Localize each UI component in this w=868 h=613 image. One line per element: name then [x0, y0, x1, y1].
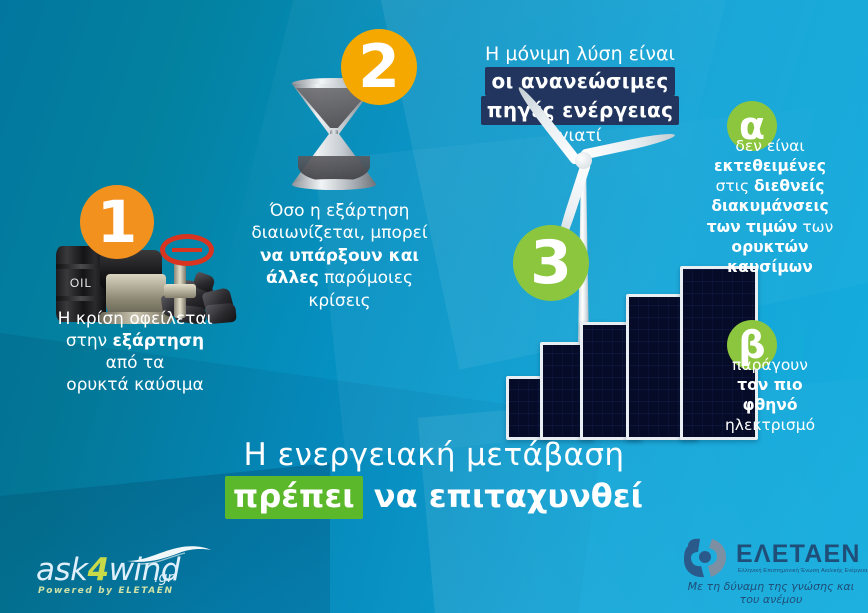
step-1-line-3: από τα — [10, 352, 260, 374]
hourglass-cap-bottom — [292, 179, 376, 190]
beta-line-3: φθηνό — [672, 395, 868, 415]
eletaen-mark-icon — [682, 536, 730, 580]
step-badge-1: 1 — [80, 185, 154, 259]
alpha-line-3: στις διεθνείς — [672, 176, 868, 196]
eletaen-name: ΕΛΕΤΑΕΝ — [736, 540, 861, 569]
step-1-line-4: ορυκτά καύσιμα — [10, 374, 260, 396]
oil-barrel-label: OIL — [56, 276, 106, 290]
step-2-line-2: διαιωνίζεται, μπορεί — [232, 222, 447, 244]
wind-turbine-hub-icon — [575, 152, 592, 169]
eletaen-subtitle: Ελληνική Επιστημονική Ένωση Αιολικής Ενέ… — [738, 568, 868, 574]
wind-turbine-blade-3 — [580, 130, 676, 160]
ask4wind-tld: .gr — [154, 570, 173, 586]
step-2-text: Όσο η εξάρτηση διαιωνίζεται, μπορεί να υ… — [232, 200, 447, 312]
eletaen-logo[interactable]: ΕΛΕΤΑΕΝ Ελληνική Επιστημονική Ένωση Αιολ… — [682, 534, 860, 600]
valve-wheel-icon — [160, 234, 214, 266]
step-1-text: Η κρίση οφείλεται στην εξάρτηση από τα ο… — [10, 308, 260, 396]
step-2-line-4: άλλες παρόμοιες — [232, 267, 447, 289]
bottom-headline-rest: να επιταχυνθεί — [363, 477, 643, 515]
bottom-headline: Η ενεργειακή μετάβαση πρέπει να επιταχυν… — [0, 437, 868, 519]
step-badge-3: 3 — [513, 225, 589, 301]
alpha-line-4: διακυμάνσεις — [672, 196, 868, 216]
bottom-headline-highlight: πρέπει — [225, 476, 363, 519]
alpha-line-1: δεν είναι — [672, 136, 868, 156]
top-headline-highlight-1-wrap: οι ανανεώσιμες — [430, 67, 730, 96]
beta-line-4: ηλεκτρισμό — [672, 415, 868, 435]
top-headline-line-1: Η μόνιμη λύση είναι — [430, 42, 730, 67]
point-beta-text: παράγουν τον πιο φθηνό ηλεκτρισμό — [672, 355, 868, 436]
step-2-line-3: να υπάρξουν και — [232, 245, 447, 267]
step-2-line-1: Όσο η εξάρτηση — [232, 200, 447, 222]
valve-nut-icon — [164, 284, 196, 298]
alpha-line-5: των τιμών των — [672, 217, 868, 237]
ask4wind-powered-by: Powered by ELETAEN — [38, 586, 174, 596]
alpha-line-7: καυσίμων — [672, 257, 868, 277]
infographic-poster: OIL 1 Η κρίση οφείλεται στην εξάρτηση απ… — [0, 0, 868, 613]
step-2-line-5: κρίσεις — [232, 290, 447, 312]
point-alpha-text: δεν είναι εκτεθειμένες στις διεθνείς δια… — [672, 136, 868, 277]
step-1-line-1: Η κρίση οφείλεται — [10, 308, 260, 330]
step-badge-2: 2 — [341, 29, 417, 105]
beta-line-1: παράγουν — [672, 355, 868, 375]
alpha-line-2: εκτεθειμένες — [672, 156, 868, 176]
eletaen-tagline: Με τη δύναμη της γνώσης και του ανέμου — [682, 580, 860, 606]
step-1-line-2: στην εξάρτηση — [10, 330, 260, 352]
alpha-line-6: ορυκτών — [672, 237, 868, 257]
beta-line-2: τον πιο — [672, 375, 868, 395]
bottom-headline-line-1: Η ενεργειακή μετάβαση — [0, 437, 868, 474]
ask4wind-logo[interactable]: ask4wind .gr Powered by ELETAEN — [30, 540, 220, 602]
top-headline-highlight-1: οι ανανεώσιμες — [485, 67, 674, 96]
bottom-headline-line-2: πρέπει να επιταχυνθεί — [0, 476, 868, 519]
